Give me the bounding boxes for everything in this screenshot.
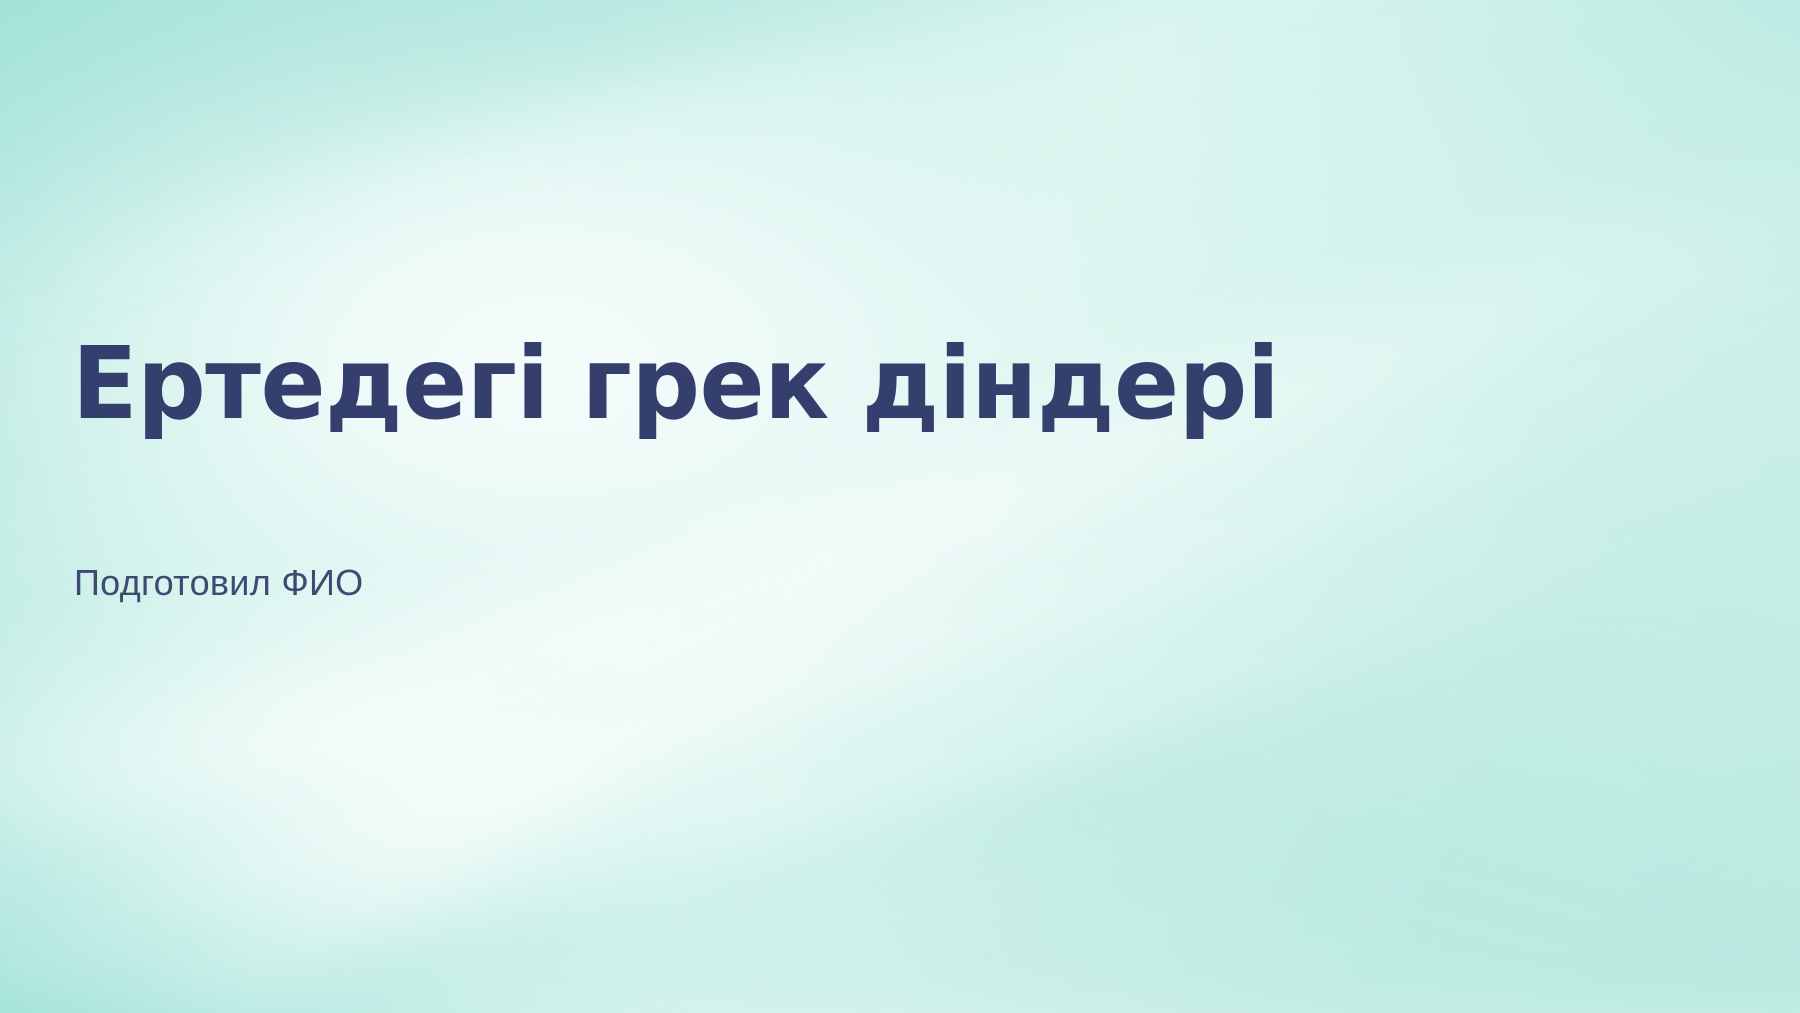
page-title: Ертедегі грек діндері xyxy=(72,334,1279,434)
title-slide: Ертедегі грек діндері Подготовил ФИО xyxy=(0,0,1800,1013)
slide-subtitle-author: Подготовил ФИО xyxy=(74,560,363,605)
slide-text-block: Ертедегі грек діндері Подготовил ФИО xyxy=(72,0,1472,1013)
